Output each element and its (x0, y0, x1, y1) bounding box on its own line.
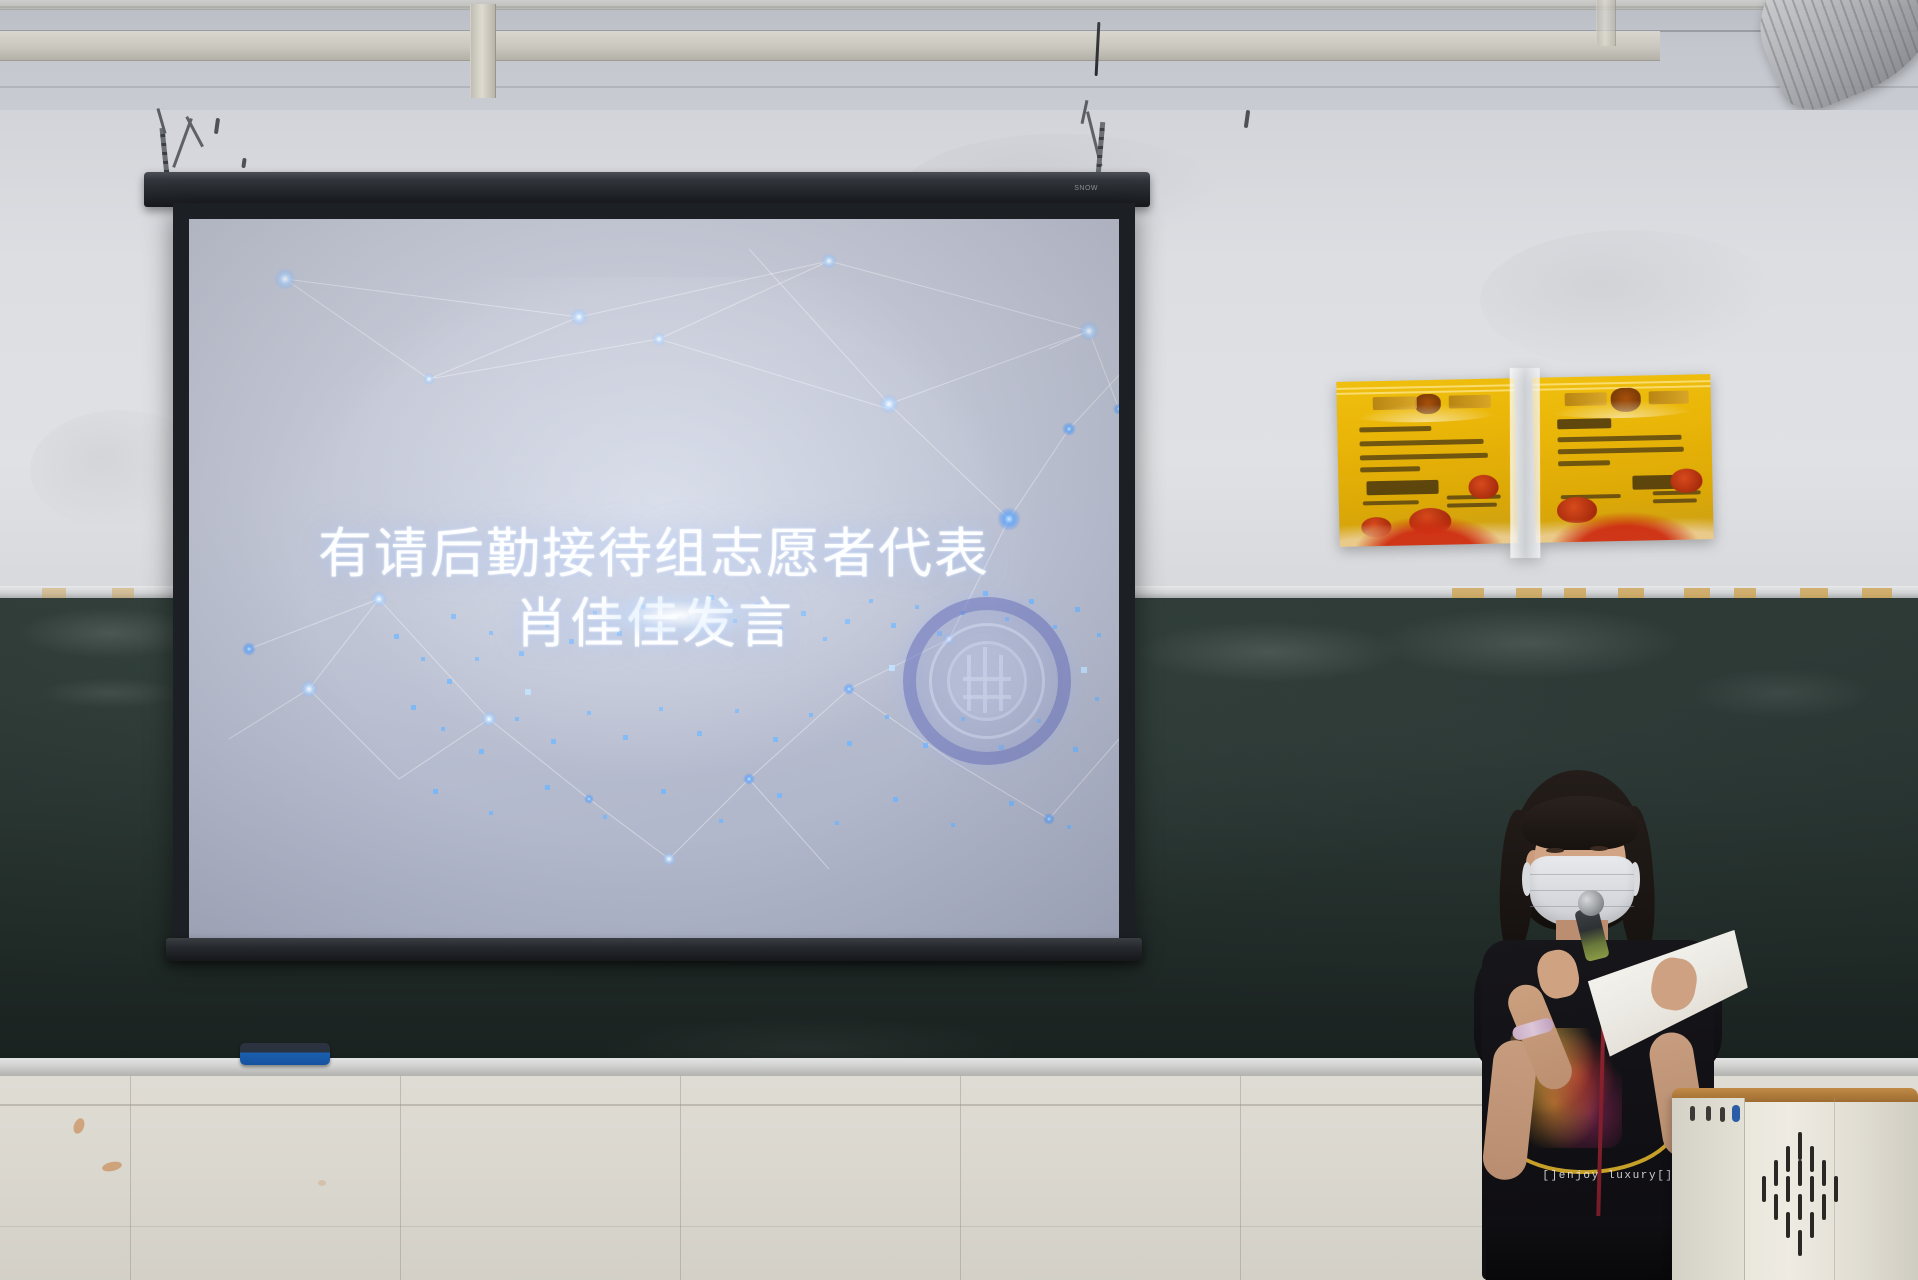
classroom-photo-scene: SNOW (0, 0, 1918, 1280)
projector-screen-frame: 有请后勤接待组志愿者代表 肖佳佳发言 (173, 203, 1135, 955)
ceiling-rail-secondary (0, 0, 1918, 10)
ac-control-panel[interactable] (1672, 1098, 1745, 1280)
banner-tape (1510, 368, 1541, 558)
projector-screen-housing[interactable]: SNOW (144, 172, 1150, 207)
award-banners (1336, 374, 1713, 547)
ac-power-indicator (1732, 1105, 1740, 1122)
projector-screen-weight-bar (166, 938, 1142, 961)
award-banner-right (1532, 374, 1713, 543)
eye-left (1546, 848, 1564, 853)
school-emblem-icon (903, 597, 1071, 765)
ceiling-post-2 (1596, 0, 1616, 46)
slide-title-line1: 有请后勤接待组志愿者代表 (318, 522, 990, 585)
projector-screen-surface[interactable]: 有请后勤接待组志愿者代表 肖佳佳发言 (189, 219, 1119, 939)
award-banner-left (1336, 378, 1517, 547)
ceiling-fan-blade (1737, 0, 1918, 120)
bangs (1522, 796, 1638, 850)
ceiling (0, 0, 1918, 120)
blackboard-eraser[interactable] (240, 1043, 330, 1065)
air-conditioner-cabinet (1672, 1098, 1918, 1280)
eye-right (1590, 846, 1608, 851)
ceiling-rail (0, 31, 1660, 61)
ceiling-post (470, 4, 496, 98)
projector-brand-label: SNOW (1074, 185, 1098, 192)
